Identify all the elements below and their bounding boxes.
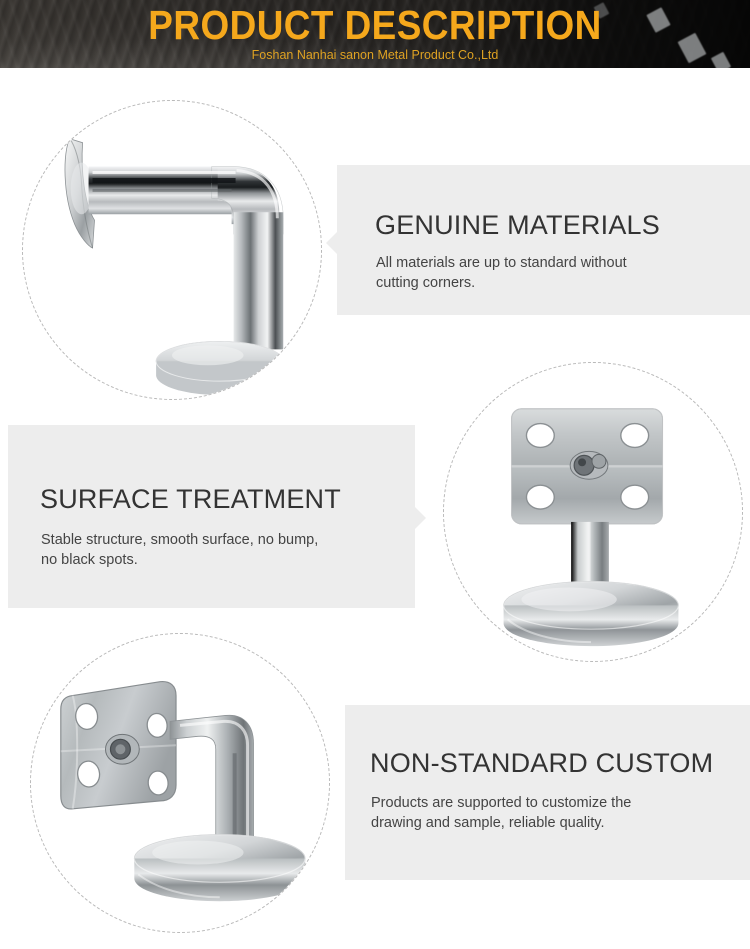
- product-description-page: PRODUCT DESCRIPTION Foshan Nanhai sanon …: [0, 0, 750, 949]
- feature-panel-non-standard-custom: NON-STANDARD CUSTOM Products are support…: [345, 705, 750, 880]
- feature-title: NON-STANDARD CUSTOM: [370, 747, 713, 779]
- feature-panel-genuine-materials: GENUINE MATERIALS All materials are up t…: [337, 165, 750, 315]
- panel-pointer-arrow-left: [326, 232, 337, 254]
- product-photo-non-standard-custom: [30, 633, 330, 933]
- bracket-angled-illustration: [31, 634, 329, 932]
- feature-body-line1: All materials are up to standard without: [376, 255, 627, 271]
- product-photo-surface-treatment: [443, 362, 743, 662]
- company-name-subtitle: Foshan Nanhai sanon Metal Product Co.,Lt…: [0, 48, 750, 63]
- page-title: PRODUCT DESCRIPTION: [38, 5, 713, 46]
- feature-title: GENUINE MATERIALS: [375, 209, 660, 241]
- feature-body: All materials are up to standard without…: [376, 253, 728, 293]
- handrail-bracket-illustration: [23, 101, 321, 399]
- feature-body-line1: Products are supported to customize the: [371, 795, 631, 811]
- bracket-front-illustration: [444, 363, 742, 661]
- feature-body-line1: Stable structure, smooth surface, no bum…: [41, 532, 318, 548]
- feature-panel-surface-treatment: SURFACE TREATMENT Stable structure, smoo…: [8, 425, 415, 608]
- feature-body-line2: drawing and sample, reliable quality.: [371, 815, 604, 831]
- feature-body: Stable structure, smooth surface, no bum…: [41, 530, 391, 570]
- feature-body-line2: cutting corners.: [376, 275, 475, 291]
- feature-body-line2: no black spots.: [41, 552, 138, 568]
- feature-body: Products are supported to customize the …: [371, 793, 716, 833]
- page-header-banner: PRODUCT DESCRIPTION Foshan Nanhai sanon …: [0, 0, 750, 68]
- feature-title: SURFACE TREATMENT: [40, 483, 341, 515]
- panel-pointer-arrow-right: [415, 507, 426, 529]
- product-photo-genuine-materials: [22, 100, 322, 400]
